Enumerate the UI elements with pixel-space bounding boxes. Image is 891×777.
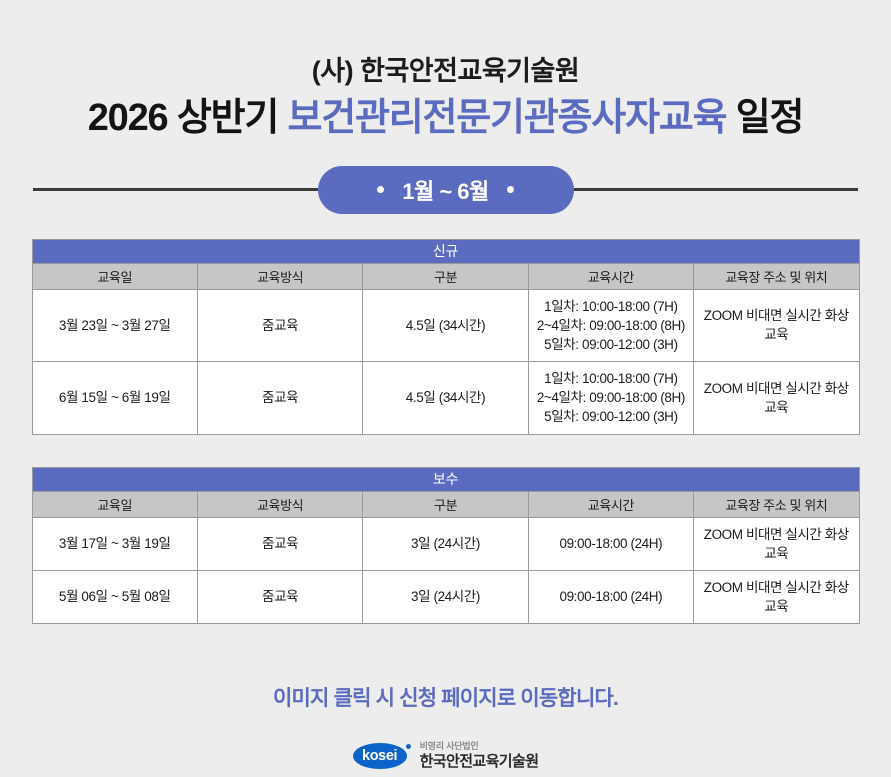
kosei-logo-icon: kosei bbox=[353, 743, 411, 769]
column-header-division: 구분 bbox=[363, 263, 528, 289]
column-header-hours: 교육시간 bbox=[528, 491, 693, 517]
brand-logo: kosei 비영리 사단법인 한국안전교육기술원 bbox=[0, 742, 891, 770]
table-row: 3월 23일 ~ 3월 27일 줌교육 4.5일 (34시간) 1일차: 10:… bbox=[32, 289, 859, 361]
schedule-table-new: 신규 교육일 교육방식 구분 교육시간 교육장 주소 및 위치 3월 23일 ~… bbox=[32, 239, 860, 435]
logo-text-block: 비영리 사단법인 한국안전교육기술원 bbox=[420, 742, 539, 770]
column-header-date: 교육일 bbox=[32, 491, 197, 517]
cell-date: 3월 17일 ~ 3월 19일 bbox=[32, 517, 197, 570]
cell-division: 4.5일 (34시간) bbox=[363, 362, 528, 434]
period-divider-row: 1월 ~ 6월 bbox=[0, 162, 891, 218]
table-group-header-row: 신규 bbox=[32, 239, 859, 263]
cell-hours: 1일차: 10:00-18:00 (7H) 2~4일차: 09:00-18:00… bbox=[528, 362, 693, 434]
column-header-method: 교육방식 bbox=[197, 263, 362, 289]
cell-date: 3월 23일 ~ 3월 27일 bbox=[32, 289, 197, 361]
cell-hours: 09:00-18:00 (24H) bbox=[528, 517, 693, 570]
logo-org-name: 한국안전교육기술원 bbox=[420, 754, 539, 771]
cell-method: 줌교육 bbox=[197, 289, 362, 361]
cell-date: 6월 15일 ~ 6월 19일 bbox=[32, 362, 197, 434]
cell-hours: 1일차: 10:00-18:00 (7H) 2~4일차: 09:00-18:00… bbox=[528, 289, 693, 361]
schedule-table-refresher: 보수 교육일 교육방식 구분 교육시간 교육장 주소 및 위치 3월 17일 ~… bbox=[32, 467, 860, 625]
schedule-tables: 신규 교육일 교육방식 구분 교육시간 교육장 주소 및 위치 3월 23일 ~… bbox=[32, 239, 860, 625]
table-row: 6월 15일 ~ 6월 19일 줌교육 4.5일 (34시간) 1일차: 10:… bbox=[32, 362, 859, 434]
table-row: 3월 17일 ~ 3월 19일 줌교육 3일 (24시간) 09:00-18:0… bbox=[32, 517, 859, 570]
cell-hours: 09:00-18:00 (24H) bbox=[528, 570, 693, 623]
cell-location: ZOOM 비대면 실시간 화상교육 bbox=[694, 362, 859, 434]
group-title-new: 신규 bbox=[32, 239, 859, 263]
column-header-hours: 교육시간 bbox=[528, 263, 693, 289]
click-notice: 이미지 클릭 시 신청 페이지로 이동합니다. bbox=[0, 682, 891, 712]
table-column-header-row: 교육일 교육방식 구분 교육시간 교육장 주소 및 위치 bbox=[32, 491, 859, 517]
schedule-infographic: { "header": { "org_name": "(사) 한국안전교육기술원… bbox=[0, 0, 891, 777]
column-header-location: 교육장 주소 및 위치 bbox=[694, 491, 859, 517]
title-accent: 보건관리전문기관종사자교육 bbox=[287, 97, 726, 139]
cell-date: 5월 06일 ~ 5월 08일 bbox=[32, 570, 197, 623]
cell-method: 줌교육 bbox=[197, 570, 362, 623]
table-group-header-row: 보수 bbox=[32, 467, 859, 491]
cell-division: 3일 (24시간) bbox=[363, 570, 528, 623]
logo-dot-icon bbox=[406, 744, 411, 749]
cell-method: 줌교육 bbox=[197, 517, 362, 570]
dot-icon-left bbox=[377, 186, 384, 193]
title-prefix: 2026 상반기 bbox=[88, 97, 278, 139]
table-row: 5월 06일 ~ 5월 08일 줌교육 3일 (24시간) 09:00-18:0… bbox=[32, 570, 859, 623]
cell-division: 3일 (24시간) bbox=[363, 517, 528, 570]
column-header-date: 교육일 bbox=[32, 263, 197, 289]
period-label: 1월 ~ 6월 bbox=[402, 174, 489, 206]
page-header: (사) 한국안전교육기술원 2026 상반기 보건관리전문기관종사자교육 일정 bbox=[0, 0, 891, 142]
divider-line-right bbox=[574, 188, 859, 191]
dot-icon-right bbox=[507, 186, 514, 193]
column-header-division: 구분 bbox=[363, 491, 528, 517]
cell-method: 줌교육 bbox=[197, 362, 362, 434]
divider-line-left bbox=[33, 188, 318, 191]
cell-division: 4.5일 (34시간) bbox=[363, 289, 528, 361]
organization-name: (사) 한국안전교육기술원 bbox=[0, 56, 891, 87]
logo-wordmark: kosei bbox=[353, 743, 407, 769]
page-title: 2026 상반기 보건관리전문기관종사자교육 일정 bbox=[0, 96, 891, 142]
cell-location: ZOOM 비대면 실시간 화상교육 bbox=[694, 517, 859, 570]
title-suffix: 일정 bbox=[736, 97, 804, 139]
table-column-header-row: 교육일 교육방식 구분 교육시간 교육장 주소 및 위치 bbox=[32, 263, 859, 289]
cell-location: ZOOM 비대면 실시간 화상교육 bbox=[694, 289, 859, 361]
column-header-location: 교육장 주소 및 위치 bbox=[694, 263, 859, 289]
group-title-refresher: 보수 bbox=[32, 467, 859, 491]
column-header-method: 교육방식 bbox=[197, 491, 362, 517]
logo-subtitle: 비영리 사단법인 bbox=[420, 742, 539, 752]
cell-location: ZOOM 비대면 실시간 화상교육 bbox=[694, 570, 859, 623]
period-badge: 1월 ~ 6월 bbox=[318, 166, 574, 214]
